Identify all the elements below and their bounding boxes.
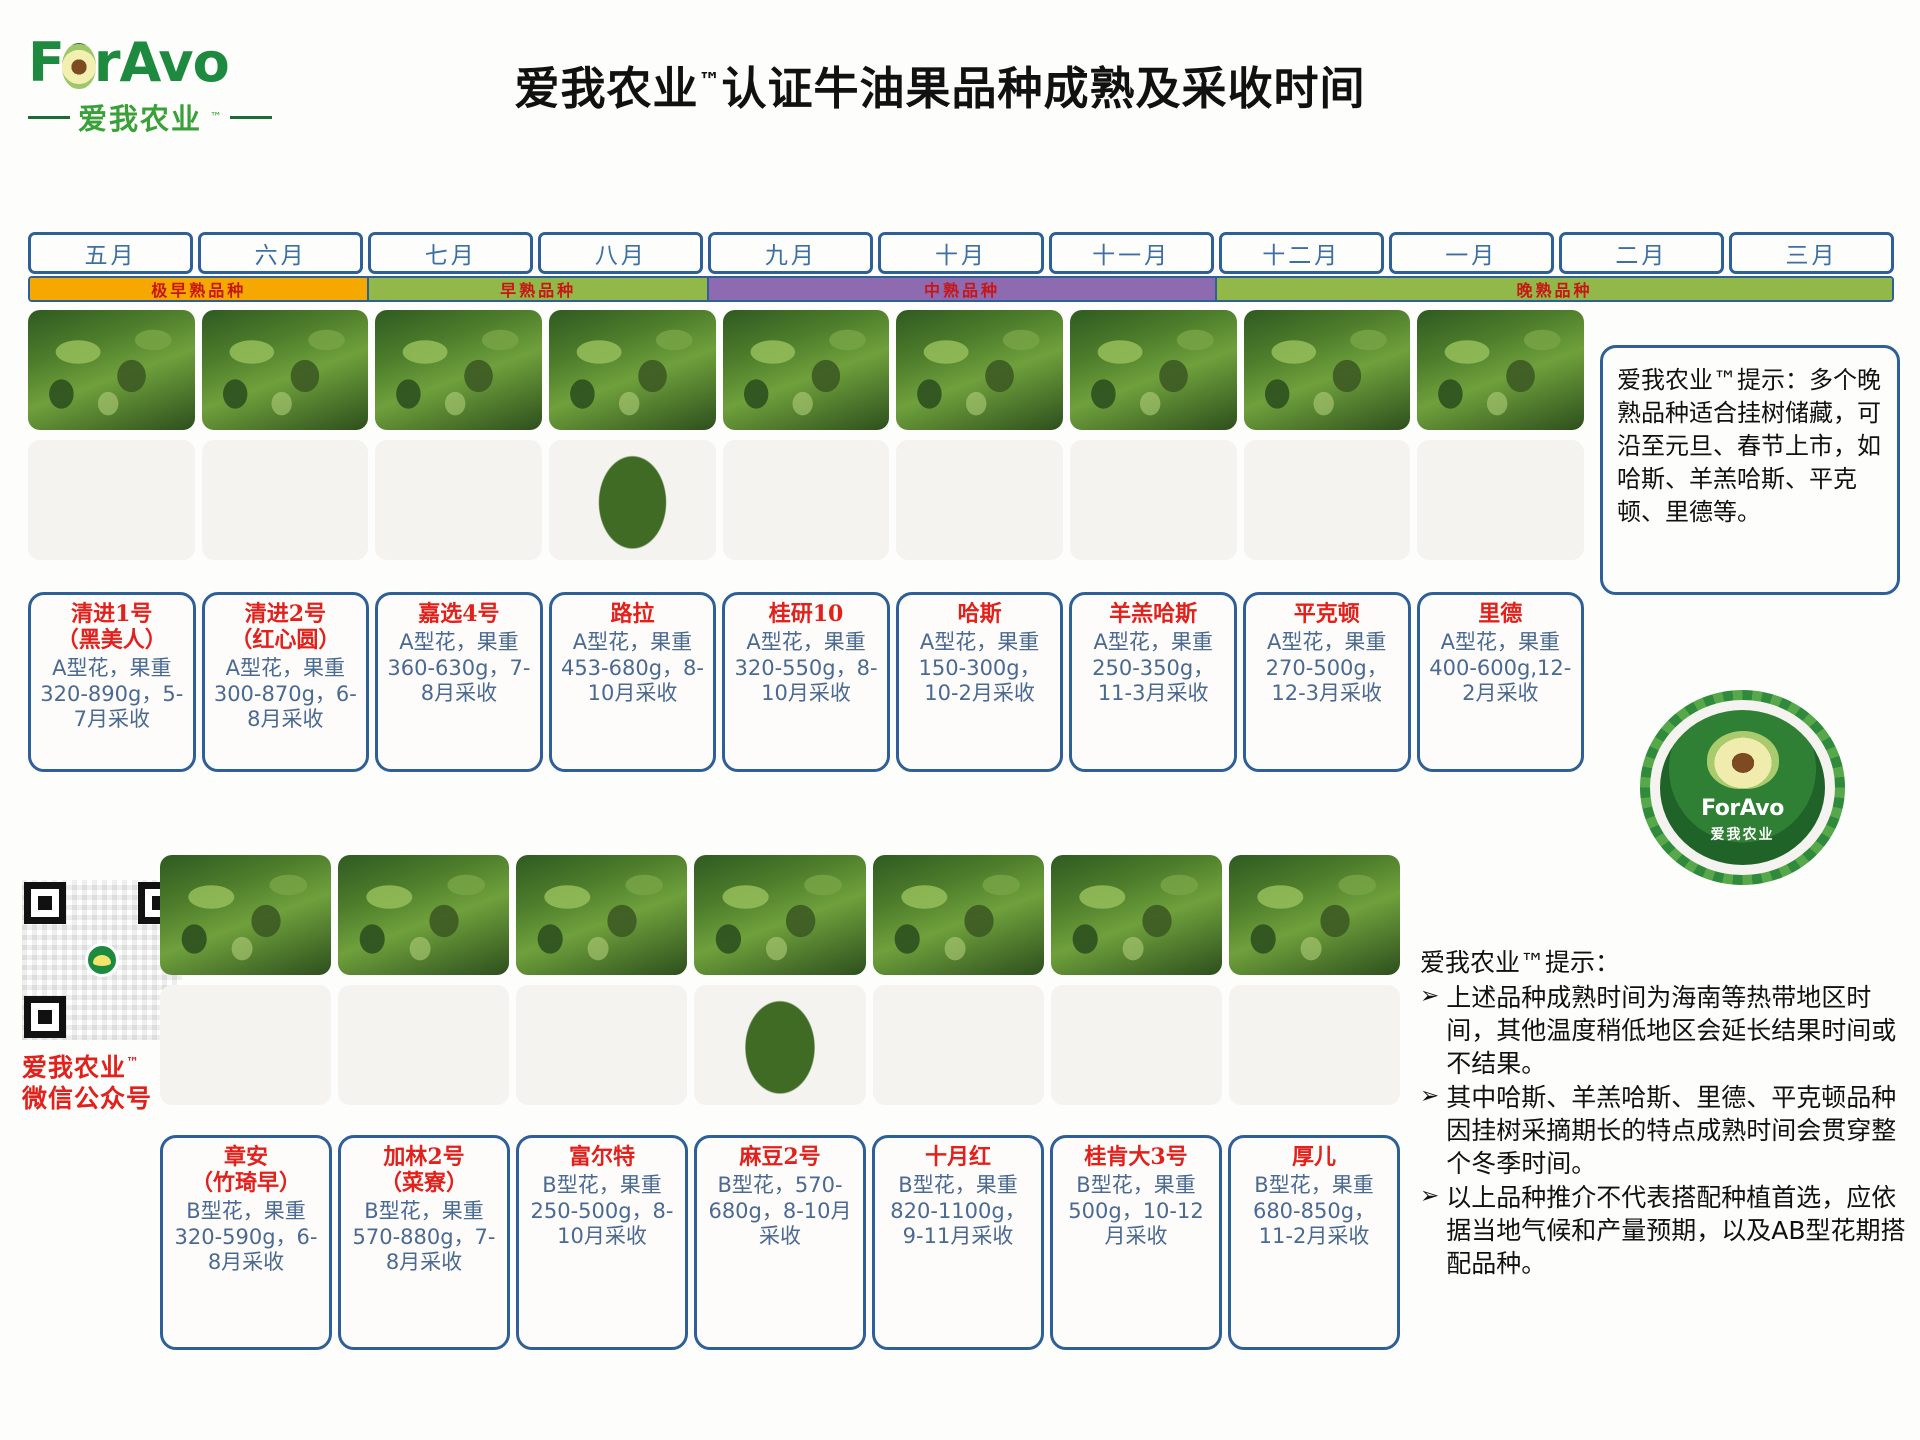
row-b-fruit-photo-6 <box>1051 985 1222 1105</box>
variety-description: B型花，果重570-880g，7-8月采收 <box>346 1199 502 1276</box>
footer-note-item-2: ➢其中哈斯、羊羔哈斯、里德、平克顿品种因挂树采摘期长的特点成熟时间会贯穿整个冬季… <box>1420 1081 1910 1180</box>
logo-chinese-lockup: 爱我农业™ <box>28 96 298 138</box>
tip-box-late-varieties: 爱我农业™提示：多个晚熟品种适合挂树储藏，可沿至元旦、春节上市，如哈斯、羊羔哈斯… <box>1600 345 1900 595</box>
logo-letters-ravo: rAvo <box>94 31 229 94</box>
row-b-variety-card-1[interactable]: 章安（竹琦早）B型花，果重320-590g，6-8月采收 <box>160 1135 332 1350</box>
row-b-fruit-photo-1 <box>160 985 331 1105</box>
qr-code-icon[interactable] <box>22 880 182 1040</box>
row-b-fruit-photo-2 <box>338 985 509 1105</box>
row-b-fruit-photo-5 <box>873 985 1044 1105</box>
row-a-tree-photo-1 <box>28 310 195 430</box>
bullet-arrow-icon: ➢ <box>1420 981 1439 1080</box>
row-b-variety-card-5[interactable]: 十月红B型花，果重820-1100g，9-11月采收 <box>872 1135 1044 1350</box>
row-b-tree-photo-3 <box>516 855 687 975</box>
variety-name: 清进1号 <box>71 602 152 628</box>
footer-note-item-1: ➢上述品种成熟时间为海南等热带地区时间，其他温度稍低地区会延长结果时间或不结果。 <box>1420 981 1910 1080</box>
row-a-fruit-photo-7 <box>1070 440 1237 560</box>
row-a-variety-card-6[interactable]: 哈斯A型花，果重150-300g，10-2月采收 <box>896 592 1064 772</box>
variety-description: A型花，果重320-550g，8-10月采收 <box>730 630 882 707</box>
season-band-1: 极早熟品种 <box>30 278 369 300</box>
month-cell-2: 六月 <box>198 232 363 274</box>
row-a-variety-card-7[interactable]: 羊羔哈斯A型花，果重250-350g，11-3月采收 <box>1069 592 1237 772</box>
month-cell-3: 七月 <box>368 232 533 274</box>
row-b-variety-cards: 章安（竹琦早）B型花，果重320-590g，6-8月采收加林2号（菜寮）B型花，… <box>160 1135 1400 1350</box>
row-a-fruit-photo-3 <box>375 440 542 560</box>
seal-chinese: 爱我农业 <box>1711 824 1775 844</box>
row-a-variety-card-8[interactable]: 平克顿A型花，果重270-500g，12-3月采收 <box>1243 592 1411 772</box>
variety-description: A型花，果重360-630g，7-8月采收 <box>383 630 535 707</box>
qr-finder-bottom-left <box>24 996 66 1038</box>
variety-name: 哈斯 <box>958 602 1002 628</box>
row-b-tree-photo-7 <box>1229 855 1400 975</box>
month-cell-11: 三月 <box>1729 232 1894 274</box>
variety-description: B型花，果重320-590g，6-8月采收 <box>168 1199 324 1276</box>
logo-tm: ™ <box>210 110 222 124</box>
variety-name: 章安 <box>224 1145 268 1171</box>
logo-rule-left <box>28 116 70 119</box>
row-b-fruit-photo-4 <box>694 985 865 1105</box>
bullet-arrow-icon: ➢ <box>1420 1181 1439 1280</box>
row-a-tree-photo-2 <box>202 310 369 430</box>
variety-description: A型花，果重250-350g，11-3月采收 <box>1077 630 1229 707</box>
row-a-fruit-photo-1 <box>28 440 195 560</box>
row-a-fruit-photo-5 <box>723 440 890 560</box>
variety-name: 十月红 <box>925 1145 991 1171</box>
row-a-fruit-photo-grid <box>28 440 1584 560</box>
season-band-3: 中熟品种 <box>709 278 1217 300</box>
variety-description: B型花，果重680-850g，11-2月采收 <box>1236 1173 1392 1250</box>
seal-wordmark: ForAvo <box>1701 796 1784 821</box>
row-b-tree-photo-1 <box>160 855 331 975</box>
variety-description: A型花，果重320-890g，5-7月采收 <box>36 656 188 733</box>
row-b-tree-photo-4 <box>694 855 865 975</box>
row-a-tree-photo-7 <box>1070 310 1237 430</box>
page-title-part1: 爱我农业 <box>514 62 698 115</box>
footer-notes-list: ➢上述品种成熟时间为海南等热带地区时间，其他温度稍低地区会延长结果时间或不结果。… <box>1420 981 1910 1280</box>
variety-description: B型花，570-680g，8-10月采收 <box>702 1173 858 1250</box>
qr-center-logo-icon <box>85 943 119 977</box>
row-a-fruit-photo-6 <box>896 440 1063 560</box>
variety-name: 加林2号 <box>383 1145 464 1171</box>
logo-letter-f: F <box>28 31 64 94</box>
qr-caption-line2: 微信公众号 <box>22 1084 152 1113</box>
footer-notes: 爱我农业™提示： ➢上述品种成熟时间为海南等热带地区时间，其他温度稍低地区会延长… <box>1420 946 1910 1281</box>
row-a-tree-photo-3 <box>375 310 542 430</box>
avocado-icon <box>62 43 96 89</box>
footer-note-text: 以上品种推介不代表搭配种植首选，应依据当地气候和产量预期，以及AB型花期搭配品种… <box>1446 1181 1910 1280</box>
season-band-row: 极早熟品种早熟品种中熟品种晚熟品种 <box>28 276 1894 302</box>
row-b-fruit-photo-3 <box>516 985 687 1105</box>
qr-caption-tm: ™ <box>126 1056 140 1071</box>
row-b-tree-photo-2 <box>338 855 509 975</box>
row-a-tree-photo-6 <box>896 310 1063 430</box>
row-a-tree-photo-8 <box>1244 310 1411 430</box>
row-b-variety-card-2[interactable]: 加林2号（菜寮）B型花，果重570-880g，7-8月采收 <box>338 1135 510 1350</box>
variety-alias: （竹琦早） <box>191 1171 301 1197</box>
row-a-fruit-photo-4 <box>549 440 716 560</box>
avocado-half-icon <box>1707 731 1779 789</box>
row-a-fruit-photo-9 <box>1417 440 1584 560</box>
month-cell-7: 十一月 <box>1049 232 1214 274</box>
row-a-variety-card-2[interactable]: 清进2号（红心圆）A型花，果重300-870g，6-8月采收 <box>202 592 370 772</box>
row-b-variety-card-6[interactable]: 桂肯大3号B型花，果重500g，10-12月采收 <box>1050 1135 1222 1350</box>
variety-name: 里德 <box>1478 602 1522 628</box>
row-a-tree-photo-4 <box>549 310 716 430</box>
row-a-variety-card-5[interactable]: 桂研10A型花，果重320-550g，8-10月采收 <box>722 592 890 772</box>
qr-caption-line1: 爱我农业 <box>22 1053 126 1082</box>
variety-description: B型花，果重250-500g，8-10月采收 <box>524 1173 680 1250</box>
row-b-fruit-photo-7 <box>1229 985 1400 1105</box>
variety-name: 厚儿 <box>1292 1145 1336 1171</box>
month-cell-4: 八月 <box>538 232 703 274</box>
footer-note-item-3: ➢以上品种推介不代表搭配种植首选，应依据当地气候和产量预期，以及AB型花期搭配品… <box>1420 1181 1910 1280</box>
seal-center: ForAvo 爱我农业 <box>1660 710 1825 865</box>
brand-logo: FrAvo 爱我农业™ <box>28 36 298 141</box>
variety-name: 富尔特 <box>569 1145 635 1171</box>
variety-description: A型花，果重300-870g，6-8月采收 <box>210 656 362 733</box>
logo-rule-right <box>230 116 272 119</box>
row-b-tree-photo-grid <box>160 855 1400 975</box>
logo-wordmark: FrAvo <box>28 36 298 90</box>
variety-alias: （红心圆） <box>230 628 340 654</box>
row-a-fruit-photo-2 <box>202 440 369 560</box>
row-a-tree-photo-9 <box>1417 310 1584 430</box>
variety-description: A型花，果重150-300g，10-2月采收 <box>904 630 1056 707</box>
row-a-tree-photo-grid <box>28 310 1584 430</box>
row-b-fruit-photo-grid <box>160 985 1400 1105</box>
month-cell-6: 十月 <box>878 232 1043 274</box>
row-b-variety-card-4[interactable]: 麻豆2号B型花，570-680g，8-10月采收 <box>694 1135 866 1350</box>
qr-finder-top-left <box>24 882 66 924</box>
season-band-4: 晚熟品种 <box>1217 278 1892 300</box>
page-title: 爱我农业™认证牛油果品种成熟及采收时间 <box>390 52 1490 117</box>
footer-note-text: 上述品种成熟时间为海南等热带地区时间，其他温度稍低地区会延长结果时间或不结果。 <box>1446 981 1910 1080</box>
month-cell-10: 二月 <box>1559 232 1724 274</box>
row-a-fruit-photo-8 <box>1244 440 1411 560</box>
variety-name: 羊羔哈斯 <box>1109 602 1197 628</box>
month-header-row: 五月六月七月八月九月十月十一月十二月一月二月三月 <box>28 232 1894 274</box>
footer-note-text: 其中哈斯、羊羔哈斯、里德、平克顿品种因挂树采摘期长的特点成熟时间会贯穿整个冬季时… <box>1446 1081 1910 1180</box>
variety-alias: （黑美人） <box>57 628 167 654</box>
month-cell-9: 一月 <box>1389 232 1554 274</box>
poster-page: FrAvo 爱我农业™ 爱我农业™认证牛油果品种成熟及采收时间 五月六月七月八月… <box>0 0 1920 1440</box>
brand-seal: ForAvo 爱我农业 <box>1640 690 1845 885</box>
variety-name: 麻豆2号 <box>739 1145 820 1171</box>
variety-name: 平克顿 <box>1294 602 1360 628</box>
variety-description: A型花，果重270-500g，12-3月采收 <box>1251 630 1403 707</box>
variety-name: 清进2号 <box>245 602 326 628</box>
season-band-2: 早熟品种 <box>369 278 708 300</box>
page-title-part2: 认证牛油果品种成熟及采收时间 <box>722 62 1366 115</box>
variety-name: 桂肯大3号 <box>1084 1145 1187 1171</box>
variety-alias: （菜寮） <box>380 1171 468 1197</box>
row-b-tree-photo-5 <box>873 855 1044 975</box>
variety-name: 路拉 <box>610 602 654 628</box>
footer-notes-heading: 爱我农业™提示： <box>1420 946 1910 979</box>
month-cell-1: 五月 <box>28 232 193 274</box>
logo-chinese-text: 爱我农业 <box>78 96 202 138</box>
row-a-variety-card-9[interactable]: 里德A型花，果重400-600g,12-2月采收 <box>1417 592 1585 772</box>
variety-description: B型花，果重820-1100g，9-11月采收 <box>880 1173 1036 1250</box>
month-cell-8: 十二月 <box>1219 232 1384 274</box>
row-a-variety-card-4[interactable]: 路拉A型花，果重453-680g，8-10月采收 <box>549 592 717 772</box>
row-a-variety-card-1[interactable]: 清进1号（黑美人）A型花，果重320-890g，5-7月采收 <box>28 592 196 772</box>
row-b-tree-photo-6 <box>1051 855 1222 975</box>
row-a-variety-cards: 清进1号（黑美人）A型花，果重320-890g，5-7月采收清进2号（红心圆）A… <box>28 592 1584 772</box>
variety-name: 嘉选4号 <box>418 602 499 628</box>
bullet-arrow-icon: ➢ <box>1420 1081 1439 1180</box>
page-title-tm: ™ <box>699 69 722 94</box>
month-cell-5: 九月 <box>708 232 873 274</box>
variety-description: B型花，果重500g，10-12月采收 <box>1058 1173 1214 1250</box>
variety-description: A型花，果重400-600g,12-2月采收 <box>1425 630 1577 707</box>
variety-description: A型花，果重453-680g，8-10月采收 <box>557 630 709 707</box>
row-a-variety-card-3[interactable]: 嘉选4号A型花，果重360-630g，7-8月采收 <box>375 592 543 772</box>
variety-name: 桂研10 <box>769 602 844 628</box>
row-b-variety-card-3[interactable]: 富尔特B型花，果重250-500g，8-10月采收 <box>516 1135 688 1350</box>
row-a-tree-photo-5 <box>723 310 890 430</box>
row-b-variety-card-7[interactable]: 厚儿B型花，果重680-850g，11-2月采收 <box>1228 1135 1400 1350</box>
